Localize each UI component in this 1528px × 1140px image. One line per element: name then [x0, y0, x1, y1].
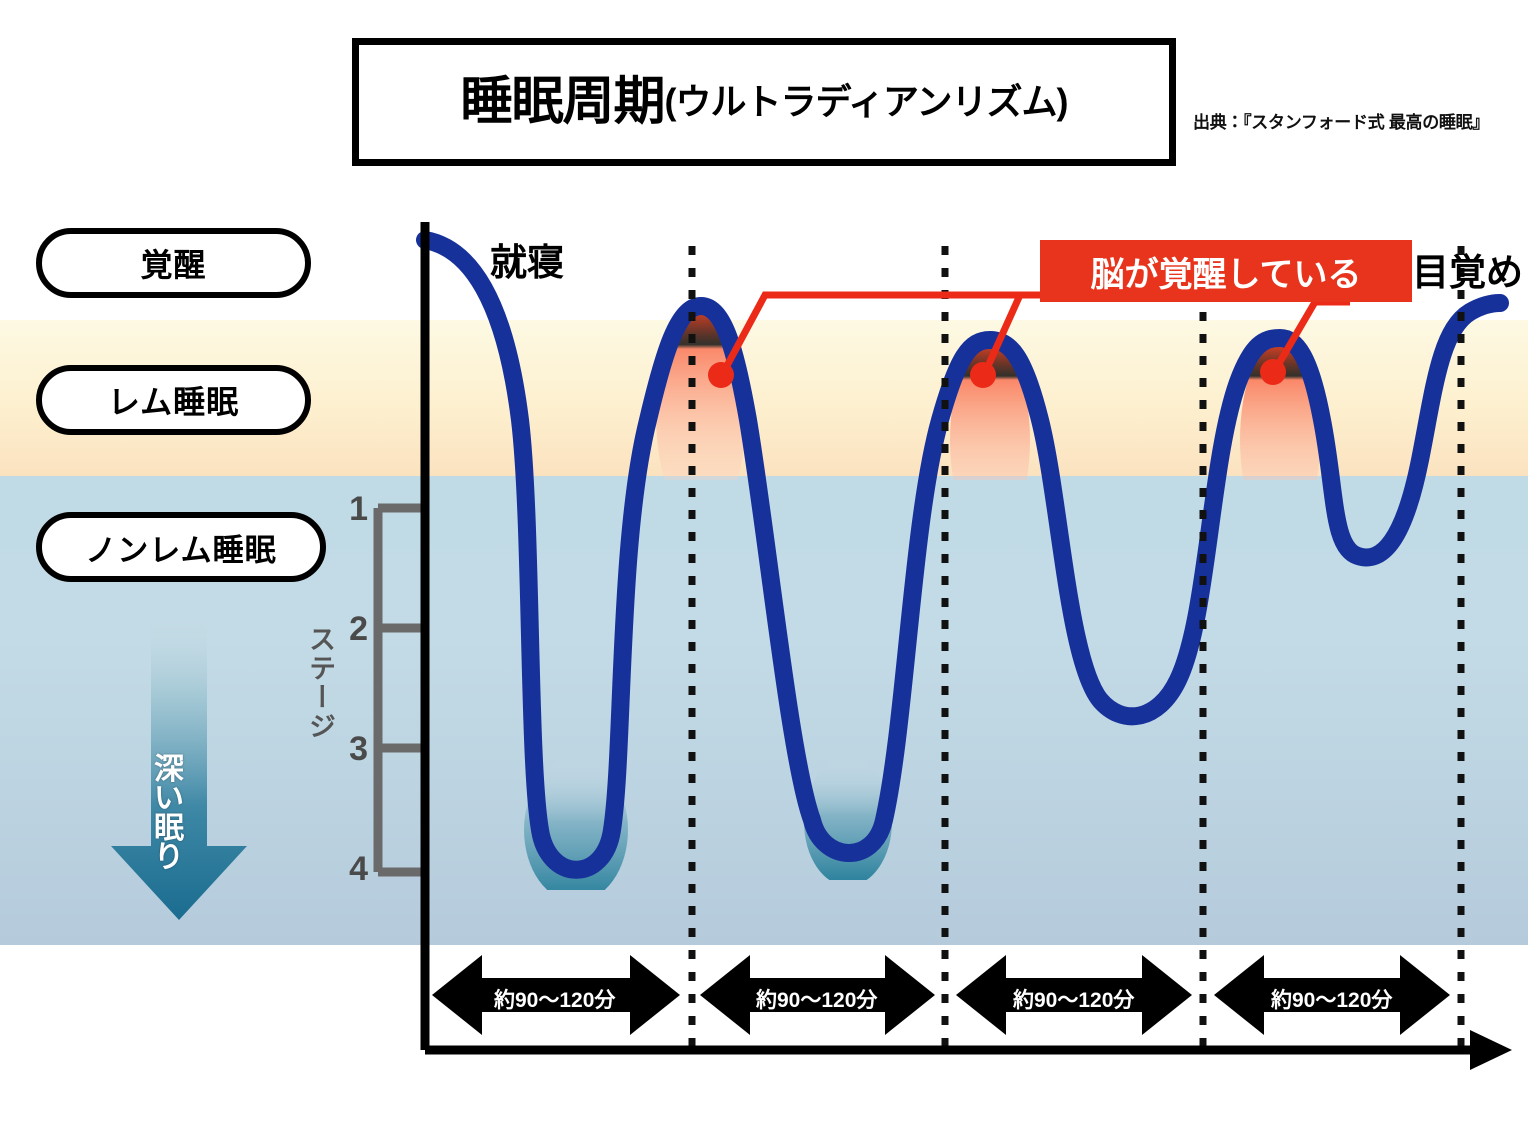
- callout-dot-2: [970, 362, 996, 388]
- cycle-duration-label-2: 約90〜120分: [756, 984, 877, 1014]
- sleep-curve-plot: [0, 0, 1528, 1140]
- brain-awake-callout: 脳が覚醒している: [1040, 240, 1412, 302]
- bedtime-label: 就寝: [490, 232, 564, 286]
- wakeup-label: 目覚め: [1412, 242, 1523, 296]
- callout-dot-1: [708, 362, 734, 388]
- cycle-duration-label-4: 約90〜120分: [1271, 984, 1392, 1014]
- brain-awake-callout-text: 脳が覚醒している: [1091, 247, 1362, 296]
- deep-trough-glow-group: [524, 758, 892, 902]
- callout-dot-3: [1260, 359, 1286, 385]
- x-axis-arrowhead: [1470, 1030, 1512, 1070]
- cycle-duration-label-1: 約90〜120分: [494, 984, 615, 1014]
- cycle-duration-label-3: 約90〜120分: [1013, 984, 1134, 1014]
- sleep-cycle-diagram: 睡眠周期(ウルトラディアンリズム) 出典：『スタンフォード式 最高の睡眠』 覚醒…: [0, 0, 1528, 1140]
